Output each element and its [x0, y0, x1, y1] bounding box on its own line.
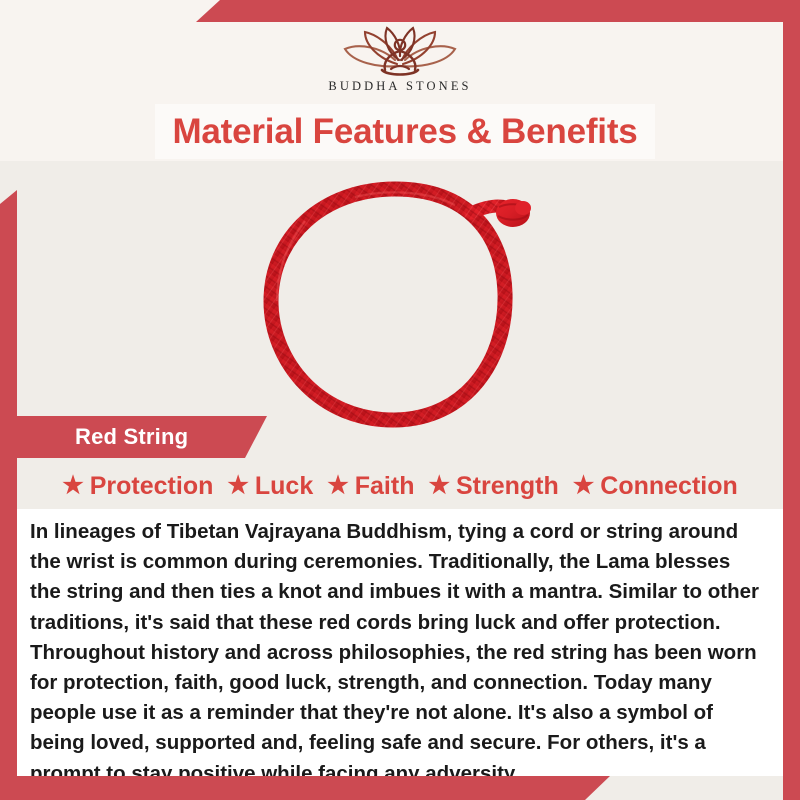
benefit-label: Luck [255, 472, 313, 501]
benefit-item-connection: ★ Connection [573, 472, 738, 501]
description-panel: In lineages of Tibetan Vajrayana Buddhis… [17, 509, 783, 776]
brand-logo: BUDDHA STONES [0, 22, 800, 100]
benefit-label: Strength [456, 472, 559, 501]
benefits-list: ★ Protection ★ Luck ★ Faith ★ Strength ★… [17, 464, 783, 508]
benefit-item-protection: ★ Protection [62, 472, 213, 501]
frame-top-accent [0, 0, 800, 22]
benefit-label: Faith [355, 472, 415, 501]
product-label-banner: Red String [17, 416, 267, 458]
red-string-bracelet-illustration [235, 161, 565, 451]
benefit-item-strength: ★ Strength [428, 472, 558, 501]
benefit-label: Protection [90, 472, 214, 501]
star-icon: ★ [428, 474, 450, 498]
description-text: In lineages of Tibetan Vajrayana Buddhis… [30, 517, 765, 789]
benefit-item-luck: ★ Luck [227, 472, 313, 501]
frame-left-accent [0, 190, 17, 800]
star-icon: ★ [227, 474, 249, 498]
benefit-label: Connection [600, 472, 738, 501]
page-title: Material Features & Benefits [172, 112, 637, 152]
lotus-meditation-icon [325, 22, 475, 78]
star-icon: ★ [62, 474, 84, 498]
star-icon: ★ [327, 474, 349, 498]
benefit-item-faith: ★ Faith [327, 472, 414, 501]
page-title-banner: Material Features & Benefits [155, 104, 655, 159]
frame-bottom-accent [0, 776, 640, 800]
brand-name: BUDDHA STONES [328, 79, 471, 94]
star-icon: ★ [573, 474, 595, 498]
frame-right-accent [783, 0, 800, 800]
product-label: Red String [75, 424, 188, 450]
product-image [0, 161, 800, 451]
